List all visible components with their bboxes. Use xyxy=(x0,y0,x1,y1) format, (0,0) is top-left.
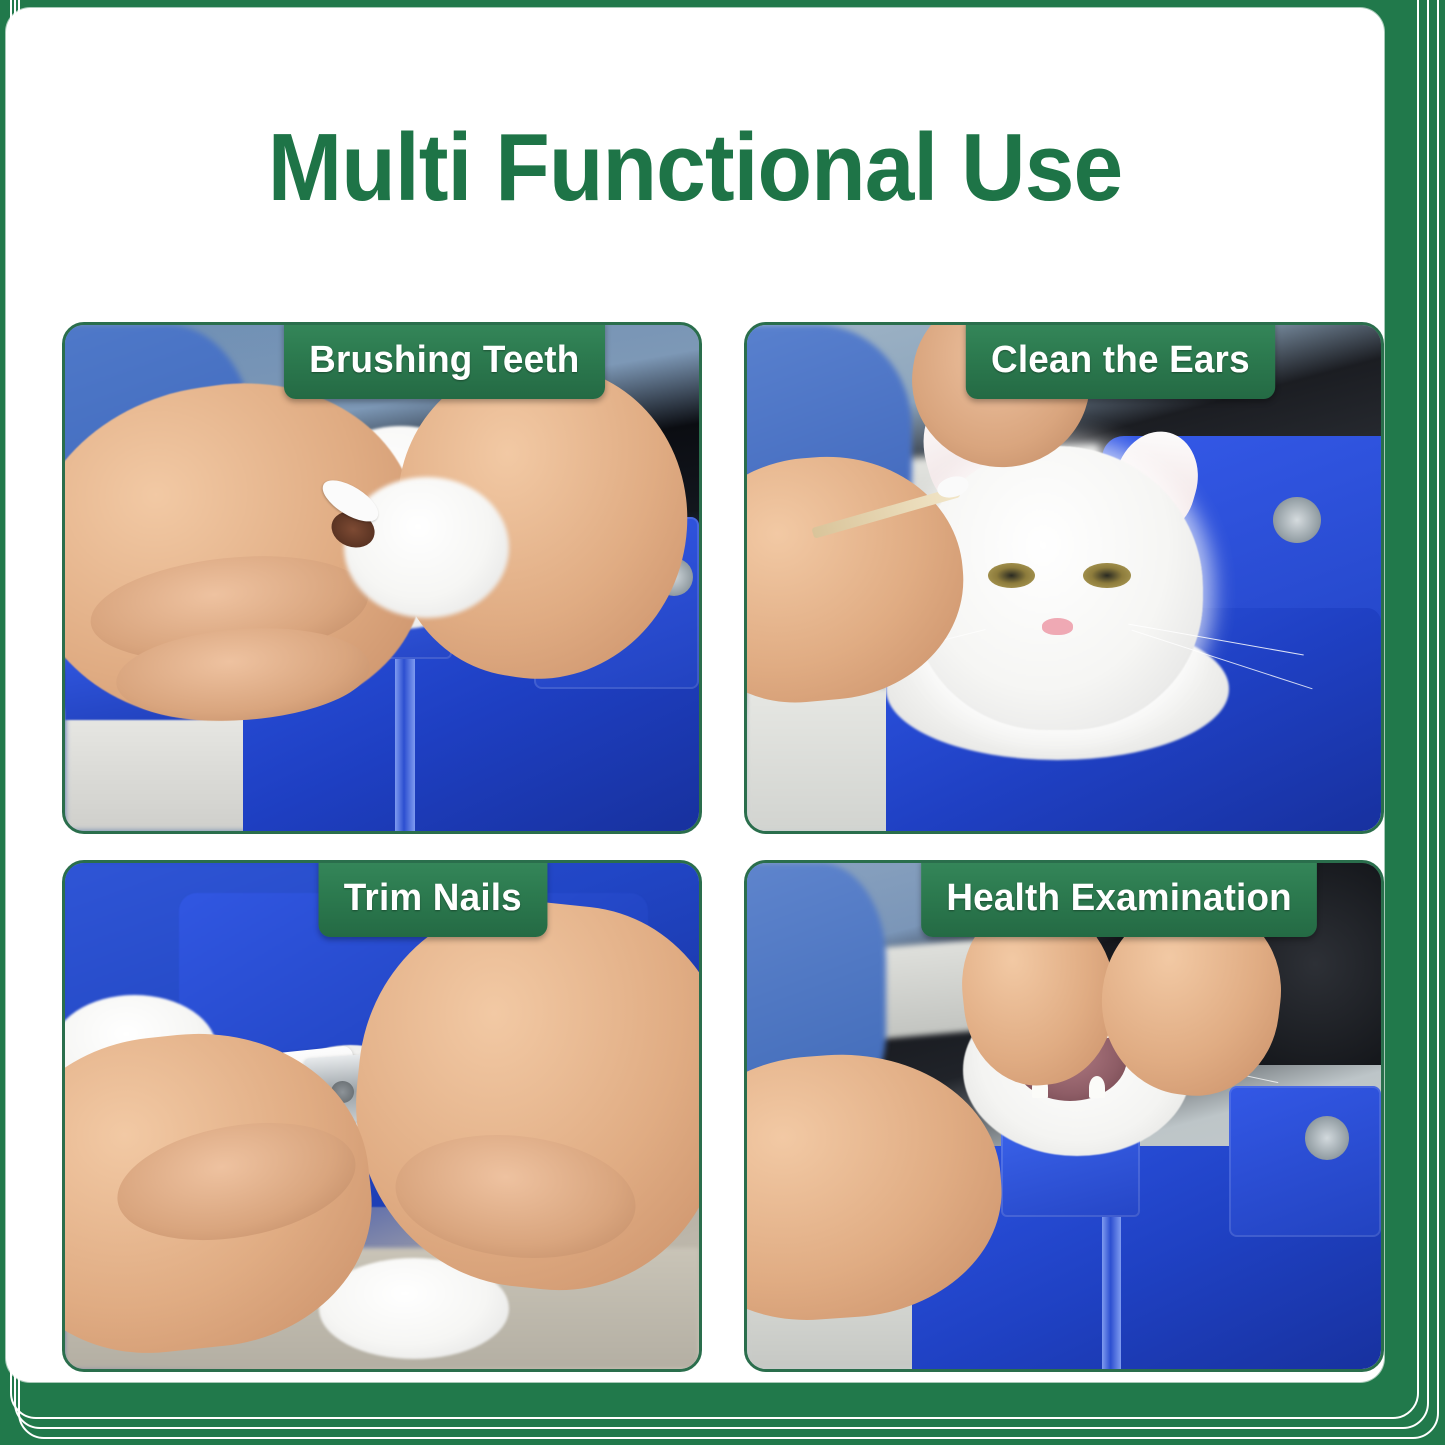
poster-content-card: Multi Functional Use xyxy=(6,8,1384,1382)
cat-nose xyxy=(1042,618,1074,634)
feature-panel-trim-nails[interactable]: Trim Nails xyxy=(62,860,702,1372)
cat-eye-right xyxy=(1083,563,1131,588)
panel-label-trim-nails: Trim Nails xyxy=(319,860,548,937)
poster-canvas: Multi Functional Use xyxy=(0,0,1445,1445)
feature-grid: Brushing Teeth xyxy=(62,322,1384,1382)
feature-panel-brushing-teeth[interactable]: Brushing Teeth xyxy=(62,322,702,834)
photo-brushing-teeth xyxy=(65,325,699,831)
feature-panel-clean-the-ears[interactable]: Clean the Ears xyxy=(744,322,1384,834)
photo-health-examination xyxy=(747,863,1381,1369)
photo-clean-the-ears xyxy=(747,325,1381,831)
panel-label-health-examination: Health Examination xyxy=(921,860,1317,937)
feature-panel-health-examination[interactable]: Health Examination xyxy=(744,860,1384,1372)
page-title: Multi Functional Use xyxy=(54,120,1336,216)
panel-label-brushing-teeth: Brushing Teeth xyxy=(284,322,605,399)
photo-trim-nails xyxy=(65,863,699,1369)
panel-label-clean-the-ears: Clean the Ears xyxy=(966,322,1275,399)
